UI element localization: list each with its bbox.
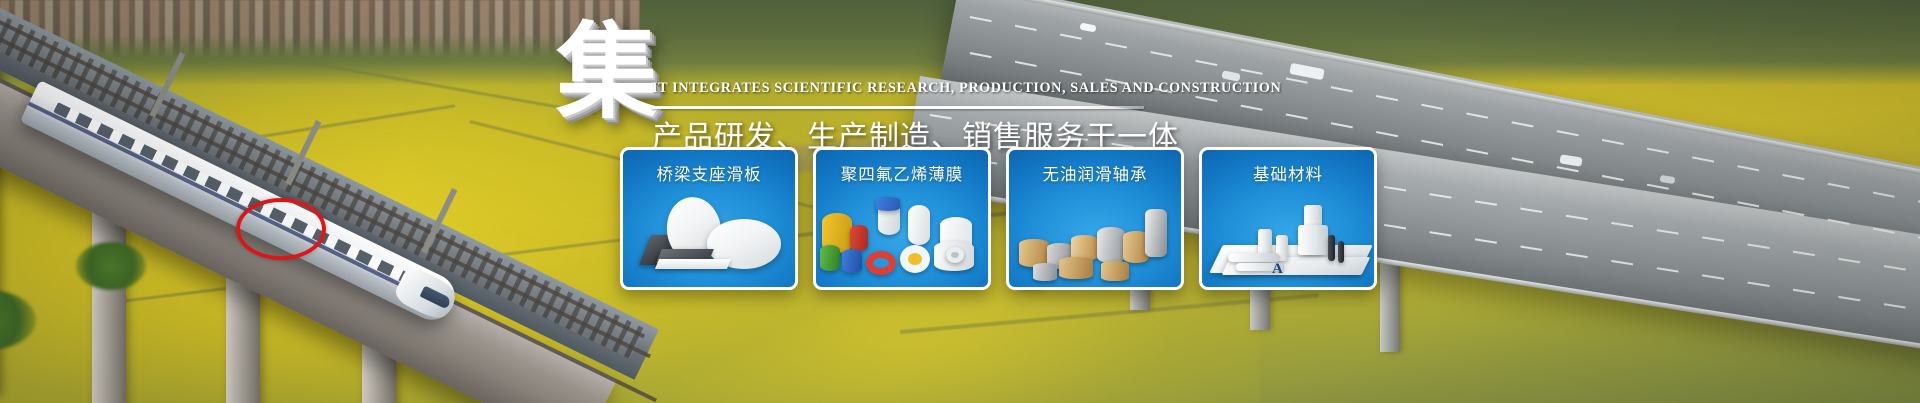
product-image-slide-plates [623, 191, 795, 287]
slide-plate-white [655, 259, 731, 269]
film-roll-white [908, 205, 930, 245]
product-image-ptfe-rolls [816, 191, 988, 287]
headline-block: 集 IT INTEGRATES SCIENTIFIC RESEARCH, PRO… [556, 24, 1156, 146]
film-roll-red [850, 225, 868, 251]
train-windshield [420, 286, 452, 310]
product-image-base-materials: A [1202, 191, 1374, 287]
material-label-a: A [1272, 261, 1283, 278]
material-rod-large [1298, 225, 1328, 255]
product-card-row: 桥梁支座滑板 聚四氟乙烯薄膜 [620, 147, 1377, 290]
film-roll-blue-tape [876, 197, 900, 211]
hero-banner: 集 IT INTEGRATES SCIENTIFIC RESEARCH, PRO… [0, 0, 1920, 403]
product-image-bushings [1009, 191, 1181, 287]
bushing-bronze [1059, 257, 1093, 279]
film-roll-blue [842, 249, 862, 273]
bushing-sleeve [1145, 209, 1167, 257]
product-card-title: 聚四氟乙烯薄膜 [816, 161, 988, 185]
film-ring-white [900, 245, 930, 273]
bushing-bronze [1101, 261, 1129, 281]
product-card-ptfe-film[interactable]: 聚四氟乙烯薄膜 [813, 147, 991, 290]
big-chinese-character: 集 [556, 20, 660, 124]
product-card-oil-free-bearing[interactable]: 无油润滑轴承 [1006, 147, 1184, 290]
product-card-base-materials[interactable]: 基础材料 A [1199, 147, 1377, 290]
vegetation [76, 242, 146, 290]
red-highlight-ellipse [236, 198, 326, 260]
material-rod-dark [1338, 241, 1344, 263]
product-card-title: 无油润滑轴承 [1009, 161, 1181, 185]
bushing-steel [1097, 227, 1125, 263]
film-ring-white [946, 247, 964, 263]
bushing-steel [1033, 263, 1057, 281]
headline-divider [652, 106, 1144, 109]
product-card-bridge-bearing-slide-plate[interactable]: 桥梁支座滑板 [620, 147, 798, 290]
english-tagline: IT INTEGRATES SCIENTIFIC RESEARCH, PRODU… [652, 80, 1152, 97]
film-roll-green [820, 245, 840, 271]
product-card-title: 基础材料 [1202, 161, 1374, 185]
film-ring-red [866, 251, 896, 275]
product-card-title: 桥梁支座滑板 [623, 161, 795, 185]
vegetation [0, 290, 36, 350]
material-rod-dark [1328, 235, 1335, 261]
